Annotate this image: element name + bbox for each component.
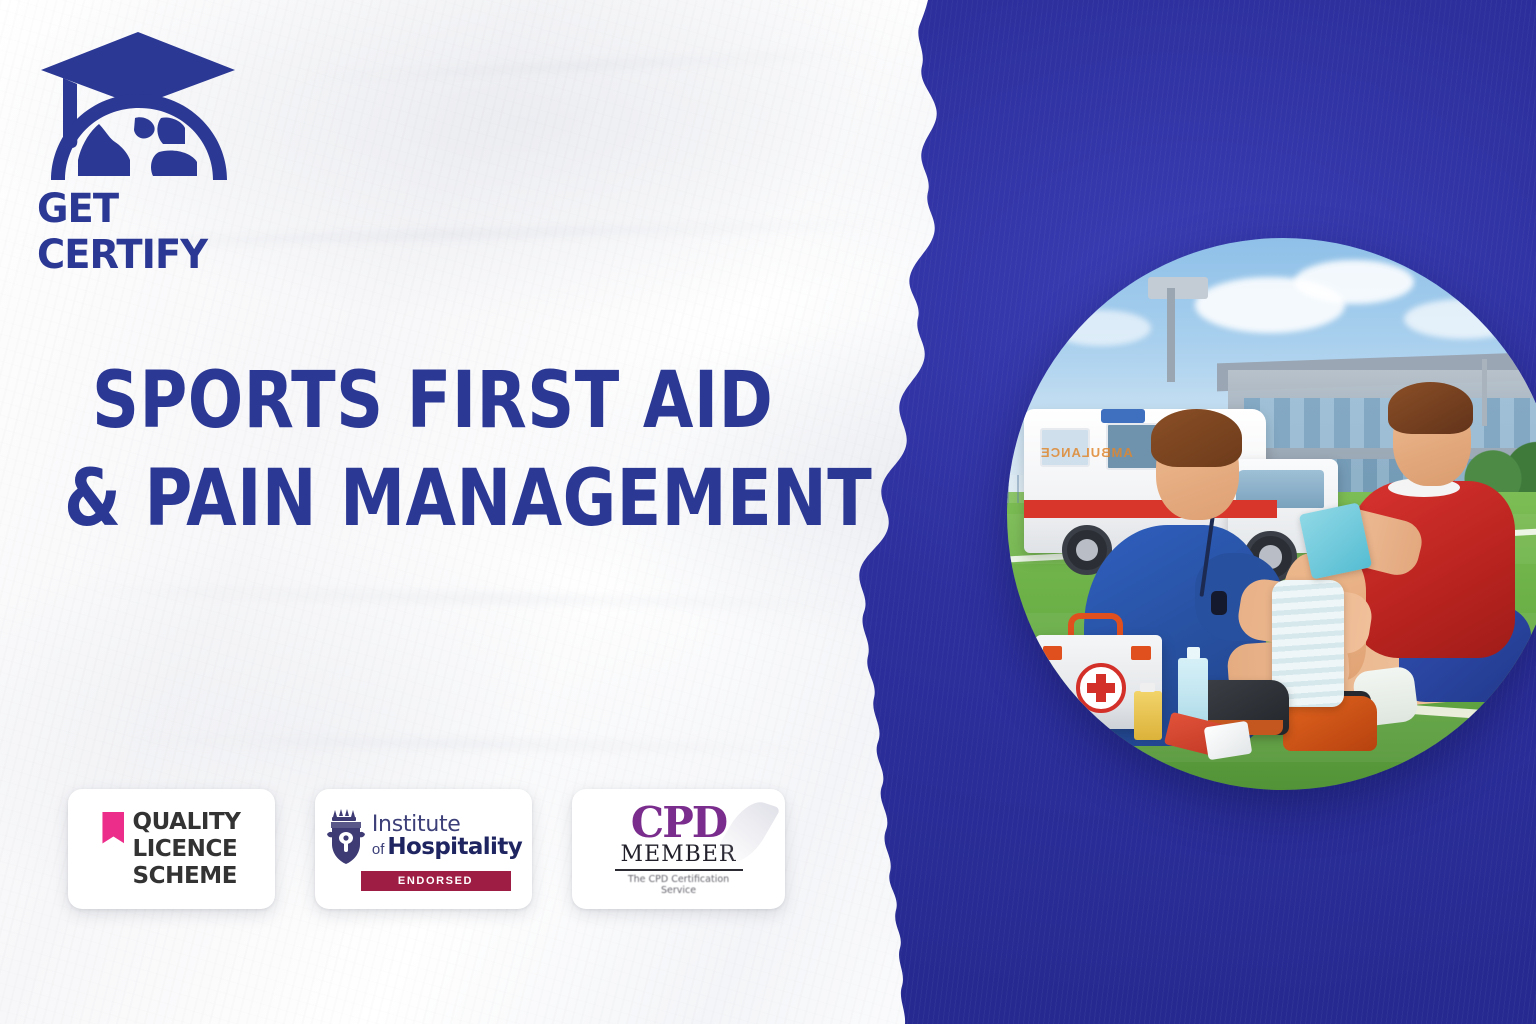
banner-canvas: AMBULANCE (0, 0, 1536, 1024)
badge-quality-licence-scheme[interactable]: QUALITY LICENCE SCHEME (68, 789, 275, 909)
qls-line-1: QUALITY (132, 809, 240, 836)
cpd-divider (615, 869, 743, 871)
pink-bookmark-icon (102, 812, 124, 844)
player-hair (1388, 382, 1474, 434)
antenna-mast (1482, 359, 1487, 425)
cloud (1051, 310, 1151, 346)
paper-crease (80, 588, 870, 607)
medic-hair (1151, 409, 1242, 467)
badge-institute-of-hospitality[interactable]: Institute of Hospitality ENDORSED (315, 789, 532, 909)
heraldic-crest-icon (325, 808, 367, 866)
illustration-scene: AMBULANCE (1007, 238, 1536, 790)
stethoscope-bell (1211, 591, 1227, 615)
floodlight-head (1148, 277, 1208, 299)
gauze-roll (1203, 721, 1252, 761)
title-line-2: & PAIN MANAGEMENT (64, 450, 760, 548)
ioh-endorsed-ribbon: ENDORSED (361, 871, 511, 891)
ioh-line-hospitality: Hospitality (387, 836, 522, 859)
paper-crease (120, 737, 820, 751)
cpd-subtitle-line-2: Service (586, 885, 771, 896)
cpd-subtitle-line-1: The CPD Certification (586, 874, 771, 885)
qls-line-2: LICENCE (132, 836, 240, 863)
cloud (1404, 299, 1524, 339)
pill-bottle (1134, 691, 1162, 741)
kit-latch (1043, 646, 1062, 660)
ioh-word-of: of (372, 842, 385, 857)
hero-illustration: AMBULANCE (1007, 238, 1536, 790)
page-title: SPORTS FIRST AID & PAIN MANAGEMENT (92, 352, 812, 548)
accreditation-badges: QUALITY LICENCE SCHEME (68, 789, 785, 909)
brand-logo[interactable]: GET CERTIFY (35, 26, 245, 226)
floodlight-mast (1167, 288, 1175, 382)
red-cross-icon (1076, 663, 1126, 713)
ioh-line-institute: Institute (372, 814, 522, 836)
title-line-1: SPORTS FIRST AID (92, 352, 762, 450)
paper-crease (300, 51, 860, 80)
graduation-cap-globe-icon (35, 26, 245, 191)
cloud (1294, 260, 1414, 304)
qls-line-3: SCHEME (132, 863, 240, 890)
brand-logo-text: GET CERTIFY (37, 186, 237, 278)
badge-cpd-member[interactable]: CPD MEMBER The CPD Certification Service (572, 789, 785, 909)
kit-latch (1131, 646, 1150, 660)
ambulance-label: AMBULANCE (1040, 445, 1133, 460)
ambulance-light-bar (1101, 409, 1145, 423)
ambulance-red-stripe (1024, 500, 1278, 518)
